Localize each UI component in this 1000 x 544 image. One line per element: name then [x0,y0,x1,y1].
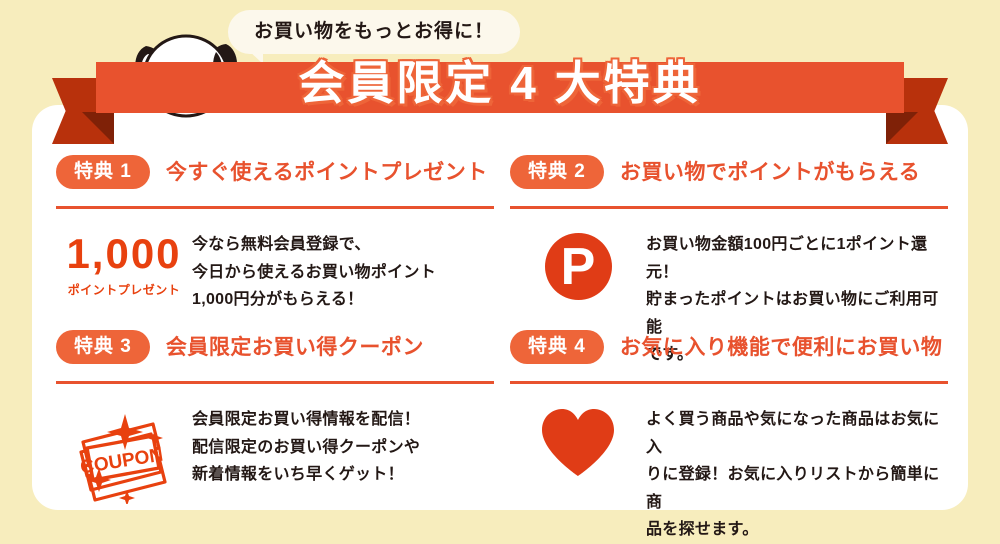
benefit-3-body: COUPON 会員限定お買い得情報を配信！ 配信限定のお買い得クーポンや 新着情… [56,406,494,504]
benefit-3-header: 特典 3 会員限定お買い得クーポン [56,328,494,366]
benefit-1-header: 特典 1 今すぐ使えるポイントプレゼント [56,153,494,191]
benefit-4-header: 特典 4 お気に入り機能で便利にお買い物 [510,328,948,366]
benefits-grid: 特典 1 今すぐ使えるポイントプレゼント 1,000 ポイントプレゼント 今なら… [32,105,968,510]
point-circle-icon: P [545,233,612,300]
benefit-card-3: 特典 3 会員限定お買い得クーポン COUPON [56,328,494,504]
heart-icon [540,408,616,478]
benefit-2-badge: 特典 2 [510,155,604,189]
points-number: 1,000 [66,233,181,275]
benefit-2-header: 特典 2 お買い物でポイントがもらえる [510,153,948,191]
coupon-icon: COUPON [69,408,179,504]
points-amount-block: 1,000 ポイントプレゼント [56,231,192,296]
heart-icon-wrap [510,406,646,478]
benefit-3-badge: 特典 3 [56,330,150,364]
coupon-icon-wrap: COUPON [56,406,192,504]
benefit-4-divider [510,381,948,384]
points-label: ポイントプレゼント [66,284,181,296]
benefit-2-title: お買い物でポイントがもらえる [620,162,920,183]
benefit-1-description: 今なら無料会員登録で、 今日から使えるお買い物ポイント 1,000円分がもらえる… [192,231,494,314]
point-circle-icon-wrap: P [510,231,646,300]
speech-bubble: お買い物をもっとお得に！ [228,10,520,54]
benefit-2-divider [510,206,948,209]
benefit-4-body: よく買う商品や気になった商品はお気に入 りに登録！お気に入りリストから簡単に商 … [510,406,948,544]
benefit-1-badge: 特典 1 [56,155,150,189]
benefit-4-title: お気に入り機能で便利にお買い物 [620,337,943,358]
benefit-3-description: 会員限定お買い得情報を配信！ 配信限定のお買い得クーポンや 新着情報をいち早くゲ… [192,406,494,489]
benefit-1-divider [56,206,494,209]
benefit-card-4: 特典 4 お気に入り機能で便利にお買い物 よく買う商品や気になった商品はお気に入… [510,328,948,544]
benefit-1-title: 今すぐ使えるポイントプレゼント [166,162,488,183]
benefit-4-badge: 特典 4 [510,330,604,364]
benefit-3-divider [56,381,494,384]
benefit-3-title: 会員限定お買い得クーポン [166,337,424,358]
benefit-4-description: よく買う商品や気になった商品はお気に入 りに登録！お気に入りリストから簡単に商 … [646,406,948,544]
benefit-card-1: 特典 1 今すぐ使えるポイントプレゼント 1,000 ポイントプレゼント 今なら… [56,153,494,314]
benefit-1-body: 1,000 ポイントプレゼント 今なら無料会員登録で、 今日から使えるお買い物ポ… [56,231,494,314]
